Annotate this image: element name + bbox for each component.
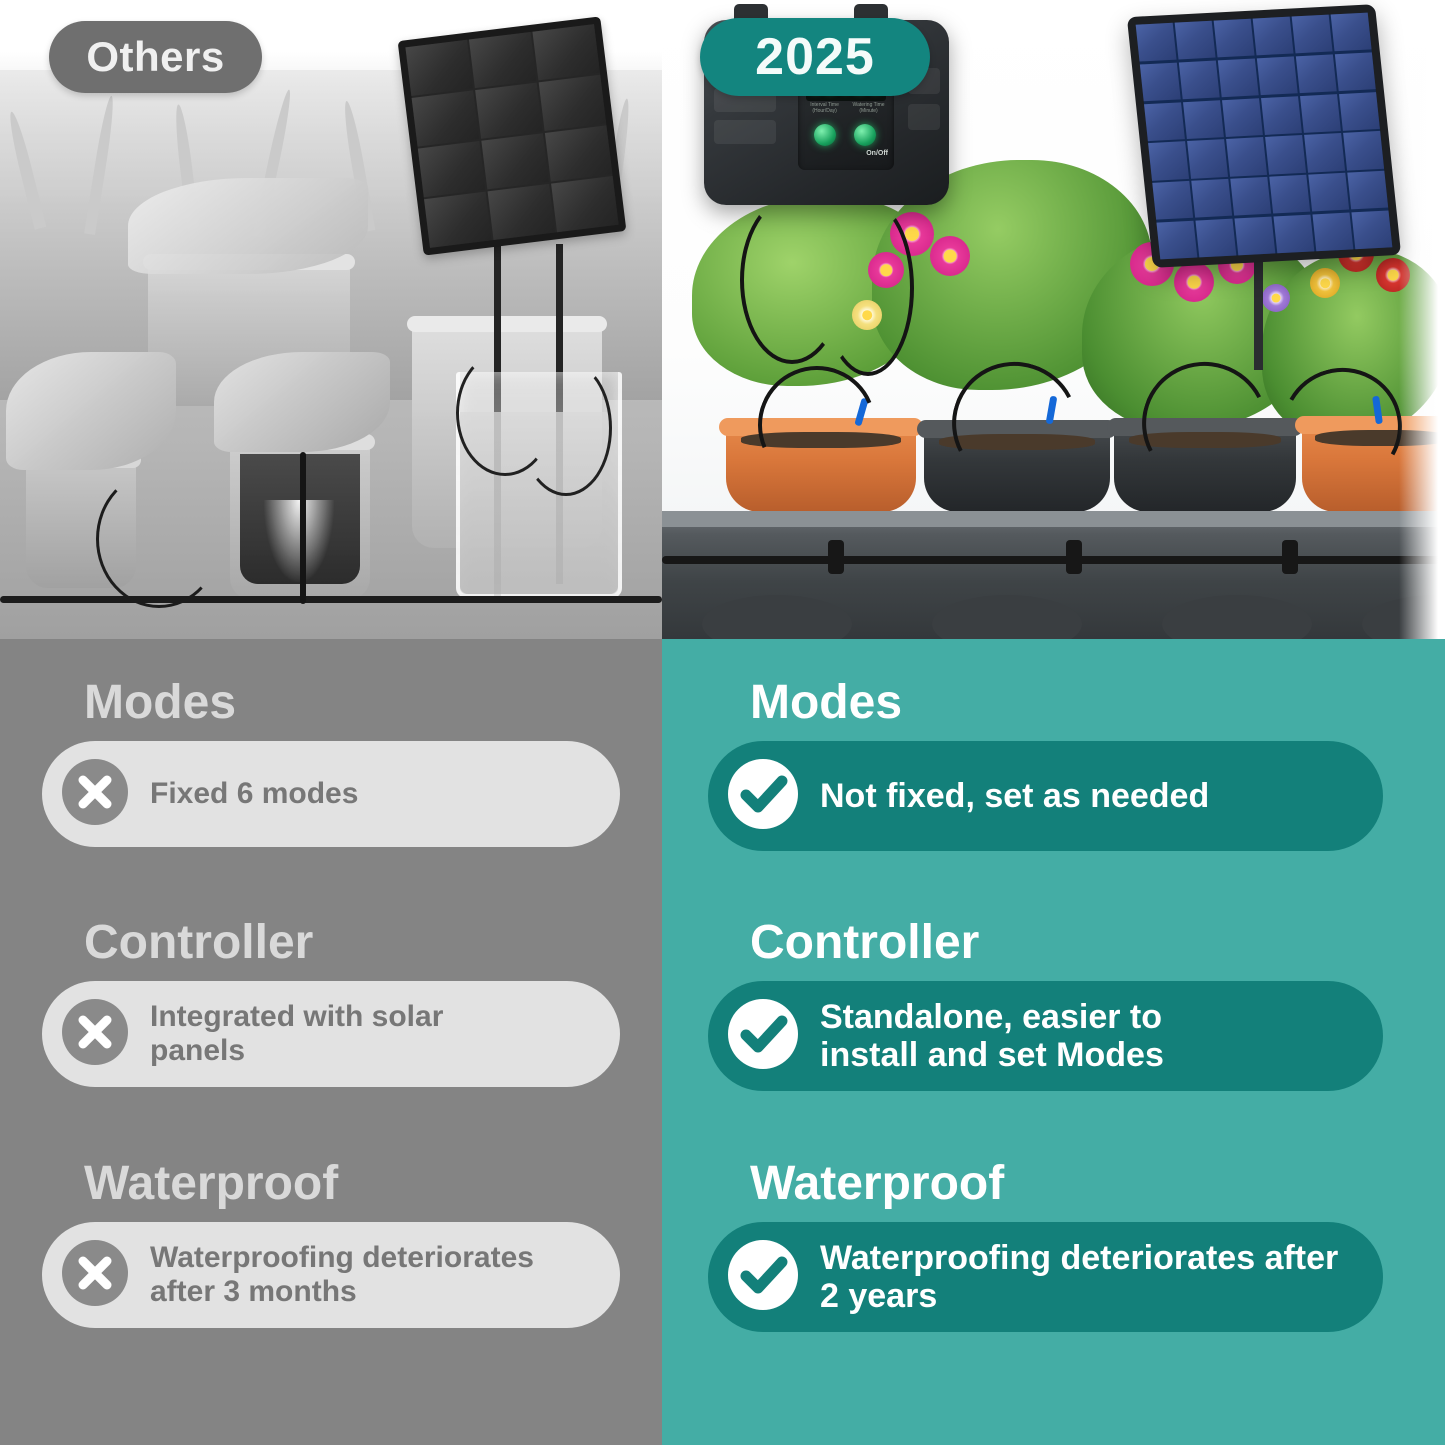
others-feature-panel: Modes Fixed 6 modes Controller bbox=[0, 639, 662, 1445]
feature-title: Controller bbox=[84, 919, 620, 967]
power-label: On/Off bbox=[866, 150, 888, 157]
interval-time-label: Interval Time (Hour/Day) bbox=[802, 103, 847, 115]
feature-row: Waterproofing deteriorates after 2 years bbox=[708, 1222, 1383, 1332]
solar-cell bbox=[1309, 173, 1349, 212]
solar-cell bbox=[1274, 214, 1314, 253]
check-circle-icon bbox=[722, 1234, 804, 1321]
feature-waterproof: Waterproof Waterproofing deteriorates af… bbox=[42, 1160, 620, 1328]
solar-cell bbox=[469, 32, 537, 88]
cross-circle-icon bbox=[56, 993, 134, 1076]
solar-cell bbox=[1191, 179, 1231, 218]
solar-cell bbox=[1292, 15, 1332, 54]
year-badge-label: 2025 bbox=[755, 27, 875, 87]
solar-cell bbox=[424, 192, 492, 248]
solar-cell bbox=[1179, 60, 1219, 99]
product-feature-panel: Modes Not fixed, set as needed Controlle… bbox=[662, 639, 1445, 1445]
2025-column: 03:30 Interval Time (Hour/Day) Watering … bbox=[662, 0, 1445, 1445]
water-tray bbox=[662, 511, 1445, 639]
others-column: Modes Fixed 6 modes Controller bbox=[0, 0, 662, 1445]
flower bbox=[930, 236, 970, 276]
check-circle-icon bbox=[722, 993, 804, 1080]
solar-cell bbox=[1296, 54, 1336, 93]
solar-cell bbox=[1339, 92, 1379, 131]
solar-cell bbox=[481, 133, 549, 189]
foliage bbox=[214, 352, 390, 452]
drip-tube bbox=[520, 360, 612, 496]
solar-cell bbox=[1175, 21, 1215, 60]
solar-cell bbox=[1270, 175, 1310, 214]
solar-cell bbox=[418, 141, 486, 197]
controller-cable bbox=[822, 200, 914, 376]
hose-connector bbox=[828, 540, 844, 574]
others-badge-label: Others bbox=[86, 33, 224, 81]
solar-cell bbox=[1148, 141, 1188, 180]
others-photo bbox=[0, 0, 662, 639]
solar-cell bbox=[1352, 210, 1392, 249]
comparison-infographic: Modes Fixed 6 modes Controller bbox=[0, 0, 1445, 1445]
solar-cell bbox=[1196, 218, 1236, 257]
case-ridge bbox=[908, 104, 940, 130]
cross-circle-icon bbox=[56, 753, 134, 836]
case-ridge bbox=[714, 120, 776, 144]
flower bbox=[1310, 268, 1340, 298]
hose-connector bbox=[1282, 540, 1298, 574]
feature-modes: Modes Fixed 6 modes bbox=[42, 679, 620, 847]
feature-text: Fixed 6 modes bbox=[150, 777, 358, 811]
solar-cell bbox=[1348, 171, 1388, 210]
solar-cell bbox=[1257, 56, 1297, 95]
solar-cell bbox=[1300, 94, 1340, 133]
solar-cell bbox=[1235, 216, 1275, 255]
display-labels: Interval Time (Hour/Day) Watering Time (… bbox=[802, 103, 890, 115]
interval-button[interactable] bbox=[814, 124, 836, 146]
main-hose bbox=[0, 596, 662, 603]
feature-title: Controller bbox=[750, 919, 1383, 967]
others-badge: Others bbox=[49, 21, 262, 93]
flower bbox=[1174, 262, 1214, 302]
solar-cell bbox=[475, 83, 543, 139]
solar-cell bbox=[1187, 139, 1227, 178]
feature-row: Standalone, easier to install and set Mo… bbox=[708, 981, 1383, 1091]
feature-controller: Controller Integrated with solar panels bbox=[42, 919, 620, 1087]
solar-cell bbox=[545, 125, 613, 181]
feature-row: Waterproofing deteriorates after 3 month… bbox=[42, 1222, 620, 1328]
feature-modes: Modes Not fixed, set as needed bbox=[708, 679, 1383, 851]
tray-basin bbox=[932, 595, 1082, 639]
tray-lip bbox=[662, 511, 1445, 527]
solar-cell bbox=[1140, 62, 1180, 101]
feature-waterproof: Waterproof Waterproofing deteriorates af… bbox=[708, 1160, 1383, 1332]
year-badge: 2025 bbox=[700, 18, 930, 96]
solar-cell bbox=[1313, 212, 1353, 251]
feature-title: Modes bbox=[84, 679, 620, 727]
feature-row: Fixed 6 modes bbox=[42, 741, 620, 847]
drip-tube bbox=[300, 452, 306, 604]
solar-cell bbox=[532, 24, 600, 80]
feature-title: Modes bbox=[750, 679, 1383, 727]
flower bbox=[1262, 284, 1290, 312]
solar-cell bbox=[1222, 98, 1262, 137]
solar-cell bbox=[1261, 96, 1301, 135]
foliage bbox=[6, 352, 176, 470]
pot-rim bbox=[407, 316, 607, 332]
solar-cell bbox=[1253, 17, 1293, 56]
foliage bbox=[128, 178, 368, 274]
photo-edge-fade bbox=[1399, 0, 1445, 639]
feature-text: Not fixed, set as needed bbox=[820, 777, 1209, 815]
solar-cell bbox=[1218, 58, 1258, 97]
tray-basin bbox=[1162, 595, 1312, 639]
solar-cell bbox=[1230, 177, 1270, 216]
solar-cell bbox=[1304, 133, 1344, 172]
feature-text: Waterproofing deteriorates after 3 month… bbox=[150, 1241, 602, 1308]
watering-button[interactable] bbox=[854, 124, 876, 146]
feature-text: Waterproofing deteriorates after 2 years bbox=[820, 1239, 1350, 1315]
solar-cell bbox=[412, 90, 480, 146]
main-hose bbox=[662, 556, 1445, 564]
feature-text: Integrated with solar panels bbox=[150, 1000, 540, 1067]
feature-title: Waterproof bbox=[750, 1160, 1383, 1208]
watering-time-label: Watering Time (Minute) bbox=[847, 103, 890, 115]
solar-cell bbox=[1136, 23, 1176, 62]
drip-tube bbox=[96, 470, 222, 608]
solar-cell bbox=[1226, 137, 1266, 176]
feature-row: Not fixed, set as needed bbox=[708, 741, 1383, 851]
solar-cell bbox=[1183, 100, 1223, 139]
solar-cell bbox=[1214, 19, 1254, 58]
hose-connector bbox=[1066, 540, 1082, 574]
feature-row: Integrated with solar panels bbox=[42, 981, 620, 1087]
solar-panel-icon bbox=[1127, 4, 1401, 268]
solar-cell-grid bbox=[1136, 13, 1393, 260]
solar-cell bbox=[1331, 13, 1371, 52]
feature-text: Standalone, easier to install and set Mo… bbox=[820, 998, 1240, 1074]
solar-cell bbox=[539, 75, 607, 131]
solar-cell bbox=[1156, 220, 1196, 259]
solar-cell bbox=[1335, 52, 1375, 91]
feature-controller: Controller Standalone, easier to install… bbox=[708, 919, 1383, 1091]
solar-cell bbox=[1144, 102, 1184, 141]
solar-cell bbox=[551, 176, 619, 232]
solar-cell bbox=[1344, 131, 1384, 170]
tray-basin bbox=[702, 595, 852, 639]
solar-panel-icon bbox=[398, 16, 627, 255]
solar-cell bbox=[1265, 135, 1305, 174]
check-circle-icon bbox=[722, 753, 804, 840]
feature-title: Waterproof bbox=[84, 1160, 620, 1208]
solar-cell-grid bbox=[405, 24, 618, 248]
root-system bbox=[264, 500, 334, 582]
solar-cell bbox=[405, 40, 473, 96]
solar-cell bbox=[488, 184, 556, 240]
solar-cell bbox=[1152, 181, 1192, 220]
cross-circle-icon bbox=[56, 1234, 134, 1317]
